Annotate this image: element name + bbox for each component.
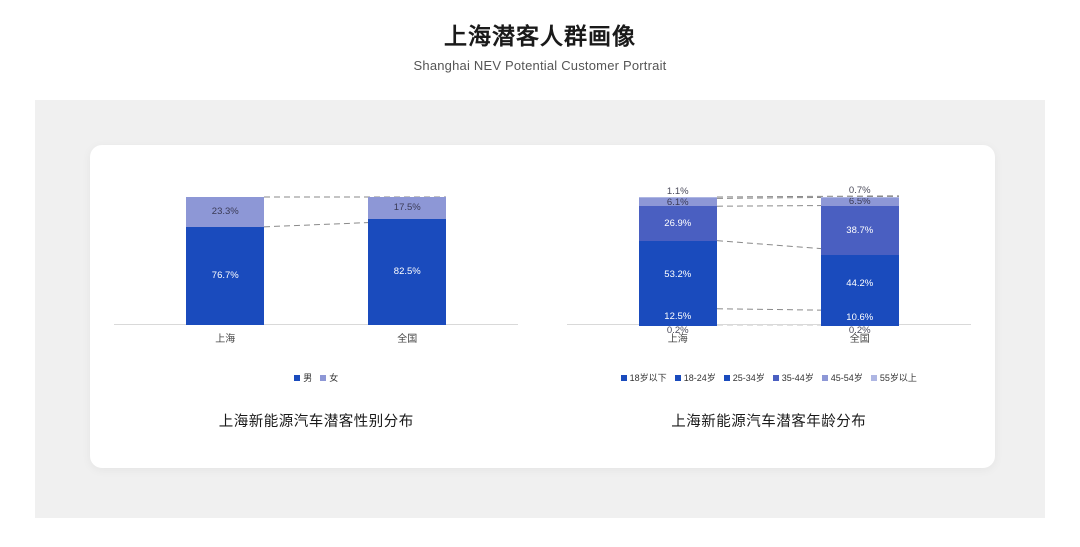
bar-segment-label: 38.7% xyxy=(846,226,873,236)
legend-item[interactable]: 45-54岁 xyxy=(822,371,863,384)
legend-swatch-icon xyxy=(621,375,627,381)
bar-age-national[interactable]: 0.2%10.6%44.2%38.7%6.5%0.7% xyxy=(821,197,899,325)
axis-line-age xyxy=(567,324,971,325)
bar-segment[interactable]: 6.1% xyxy=(639,198,717,206)
bar-segment-label: 82.5% xyxy=(394,267,421,277)
legend-swatch-icon xyxy=(294,375,300,381)
tick-label-national: 全国 xyxy=(352,330,462,345)
bar-segment-label: 26.9% xyxy=(664,219,691,229)
bar-segment[interactable]: 44.2% xyxy=(821,255,899,311)
legend-item[interactable]: 女 xyxy=(320,371,338,384)
page-title: 上海潜客人群画像 xyxy=(0,22,1080,51)
bar-segment[interactable]: 26.9% xyxy=(639,206,717,240)
bar-gender-national[interactable]: 82.5%17.5% xyxy=(368,197,446,325)
bar-segment-label: 0.7% xyxy=(849,186,871,196)
bar-segment[interactable]: 38.7% xyxy=(821,206,899,255)
legend-item-label: 25-34岁 xyxy=(733,371,765,384)
bar-segment-label: 10.6% xyxy=(846,313,873,323)
legend-gender: 男女 xyxy=(294,371,338,384)
bar-segment-label: 6.1% xyxy=(667,198,689,208)
bar-segment-label: 76.7% xyxy=(212,271,239,281)
axis-line-gender xyxy=(114,324,518,325)
legend-item-label: 男 xyxy=(303,371,312,384)
bar-segment-label: 6.5% xyxy=(849,197,871,207)
bar-segment[interactable]: 23.3% xyxy=(186,197,264,227)
bar-segment[interactable]: 53.2% xyxy=(639,241,717,309)
legend-item-label: 女 xyxy=(329,371,338,384)
legend-item[interactable]: 男 xyxy=(294,371,312,384)
page-header: 上海潜客人群画像 Shanghai NEV Potential Customer… xyxy=(0,0,1080,73)
page-subtitle: Shanghai NEV Potential Customer Portrait xyxy=(0,58,1080,73)
legend-item-label: 18-24岁 xyxy=(684,371,716,384)
bar-segment-label: 1.1% xyxy=(667,187,689,197)
chart-caption-age: 上海新能源汽车潜客年龄分布 xyxy=(671,410,866,431)
legend-item[interactable]: 18岁以下 xyxy=(621,371,667,384)
bar-gender-shanghai[interactable]: 76.7%23.3% xyxy=(186,197,264,325)
bar-segment[interactable]: 76.7% xyxy=(186,227,264,325)
legend-item-label: 55岁以上 xyxy=(880,371,917,384)
legend-item[interactable]: 18-24岁 xyxy=(675,371,716,384)
bar-segment[interactable]: 6.5% xyxy=(821,198,899,206)
legend-item[interactable]: 55岁以上 xyxy=(871,371,917,384)
tick-label-shanghai: 上海 xyxy=(623,330,733,345)
legend-age: 18岁以下18-24岁25-34岁35-44岁45-54岁55岁以上 xyxy=(621,371,917,384)
legend-swatch-icon xyxy=(675,375,681,381)
legend-item[interactable]: 35-44岁 xyxy=(773,371,814,384)
legend-swatch-icon xyxy=(822,375,828,381)
charts-row: 76.7%23.3% 82.5%17.5% 上海 全国 男女 上海新能源汽车潜客… xyxy=(90,145,995,468)
legend-swatch-icon xyxy=(724,375,730,381)
bar-segment-label: 23.3% xyxy=(212,207,239,217)
bar-segment[interactable]: 1.1% xyxy=(639,197,717,198)
legend-item-label: 35-44岁 xyxy=(782,371,814,384)
legend-item[interactable]: 25-34岁 xyxy=(724,371,765,384)
bar-segment[interactable]: 82.5% xyxy=(368,219,446,325)
bar-segment-label: 53.2% xyxy=(664,270,691,280)
legend-swatch-icon xyxy=(320,375,326,381)
bar-segment[interactable]: 10.6% xyxy=(821,311,899,324)
chart-age: 0.2%12.5%53.2%26.9%6.1%1.1% 0.2%10.6%44.… xyxy=(543,145,996,468)
bar-segment-label: 12.5% xyxy=(664,312,691,322)
bar-segment-label: 17.5% xyxy=(394,203,421,213)
chart-caption-gender: 上海新能源汽车潜客性别分布 xyxy=(219,410,414,431)
bar-segment-label: 44.2% xyxy=(846,279,873,289)
legend-item-label: 18岁以下 xyxy=(630,371,667,384)
connector-lines-gender xyxy=(96,169,536,369)
plot-area-age: 0.2%12.5%53.2%26.9%6.1%1.1% 0.2%10.6%44.… xyxy=(549,169,989,369)
chart-gender: 76.7%23.3% 82.5%17.5% 上海 全国 男女 上海新能源汽车潜客… xyxy=(90,145,543,468)
bar-age-shanghai[interactable]: 0.2%12.5%53.2%26.9%6.1%1.1% xyxy=(639,197,717,325)
plot-area-gender: 76.7%23.3% 82.5%17.5% 上海 全国 xyxy=(96,169,536,369)
bar-segment[interactable]: 17.5% xyxy=(368,197,446,219)
tick-label-national: 全国 xyxy=(805,330,915,345)
connector-lines-age xyxy=(549,169,989,369)
legend-swatch-icon xyxy=(773,375,779,381)
bar-segment[interactable]: 12.5% xyxy=(639,309,717,325)
legend-swatch-icon xyxy=(871,375,877,381)
tick-label-shanghai: 上海 xyxy=(170,330,280,345)
bar-segment[interactable]: 0.7% xyxy=(821,197,899,198)
legend-item-label: 45-54岁 xyxy=(831,371,863,384)
